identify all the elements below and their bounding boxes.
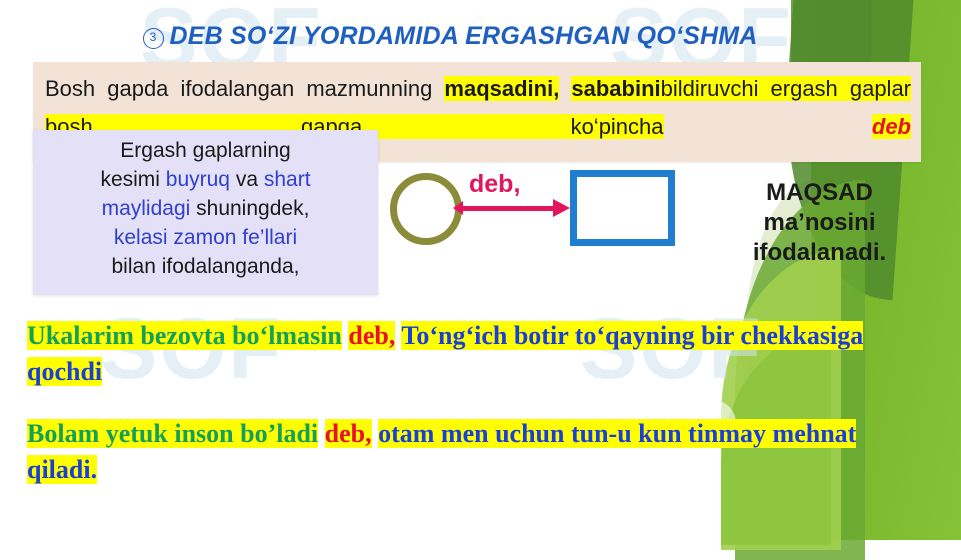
callout-line-4: kelasi zamon fe’llari [33,223,378,252]
example-sentence: Ukalarim bezovta bo‘lmasin deb, To‘ng‘ic… [27,318,907,390]
definition-keyword-deb: deb [872,114,911,139]
arrow-line-icon [457,206,557,211]
ergash-gap-circle-shape [390,173,462,245]
title-number-badge: 3 [143,28,164,49]
bosh-gap-rectangle-shape [570,170,675,246]
callout-box: Ergash gaplarning kesimi buyruq va shart… [33,130,378,295]
definition-highlight-sababini: sababini [571,76,660,101]
maqsad-line-2: ma’nosini [712,208,927,238]
callout-term-maylidagi: maylidagi [102,197,191,220]
relationship-diagram: deb, [385,160,685,270]
callout-line-3: maylidagi shuningdek, [33,194,378,223]
maqsad-label: MAQSAD ma’nosini ifodalanadi. [712,178,927,268]
callout-term-buyruq: buyruq [166,168,230,191]
maqsad-line-3: ifodalanadi. [712,238,927,268]
arrow-label-deb: deb, [469,170,520,199]
definition-highlight-maqsadini: maqsadini, [444,76,559,101]
callout-line-1: Ergash gaplarning [33,136,378,165]
page-title: 3DEB SO‘ZI YORDAMIDA ERGASHGAN QO‘SHMA [0,22,900,51]
example-sentence: Bolam yetuk inson bo’ladi deb, otam men … [27,416,907,488]
callout-line-5: bilan ifodalanganda, [33,252,378,281]
callout-text: kesimi [100,168,165,191]
callout-text: shuningdek, [190,197,309,220]
maqsad-line-1: MAQSAD [712,178,927,208]
example-keyword-deb: deb, [325,419,372,448]
example-clause-green: Bolam yetuk inson bo’ladi [27,419,318,448]
callout-line-2: kesimi buyruq va shart [33,165,378,194]
examples-list: Ukalarim bezovta bo‘lmasin deb, To‘ng‘ic… [27,318,907,514]
definition-word: Bosh [45,76,95,101]
example-clause-green: Ukalarim bezovta bo‘lmasin [27,321,342,350]
callout-text: va [230,168,264,191]
arrow-head-icon [553,199,570,217]
callout-term-shart: shart [264,168,311,191]
title-text: DEB SO‘ZI YORDAMIDA ERGASHGAN QO‘SHMA [170,22,758,50]
example-keyword-deb: deb, [348,321,395,350]
definition-word: gapda [107,76,168,101]
definition-word: ifodalangan [181,76,295,101]
callout-term-kelasi-zamon: kelasi zamon fe’llari [114,226,297,249]
definition-word: mazmunning [306,76,432,101]
